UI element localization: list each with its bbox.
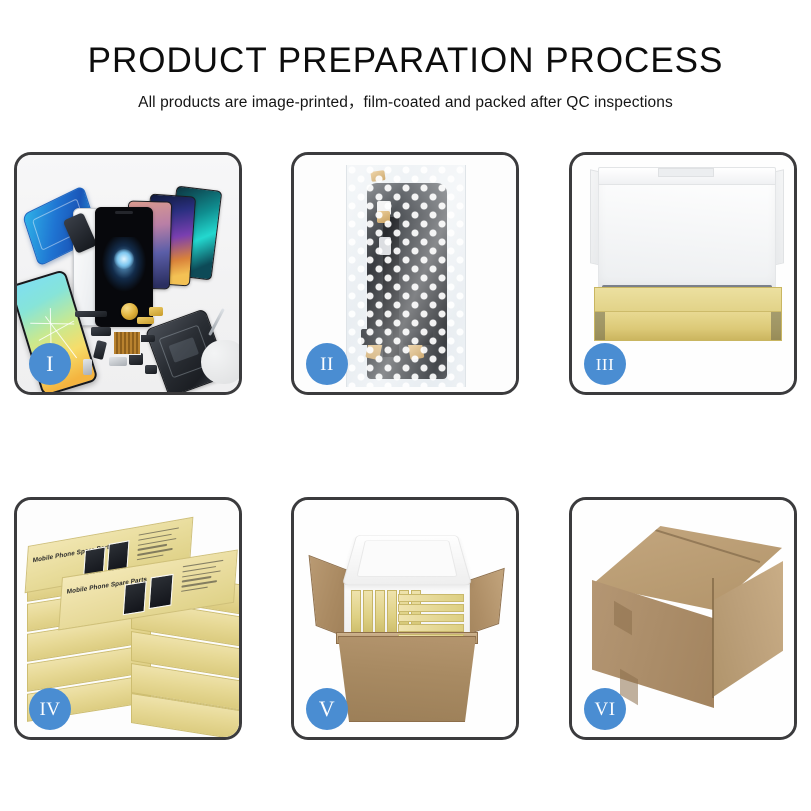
product-preparation-process-infographic: PRODUCT PREPARATION PROCESS All products… xyxy=(0,0,811,811)
metal-shield-part xyxy=(109,357,127,366)
process-step-1: I xyxy=(14,152,242,395)
gold-connector-part xyxy=(137,317,154,324)
vibration-motor-part xyxy=(121,303,138,320)
page-title: PRODUCT PREPARATION PROCESS xyxy=(0,40,811,82)
step-6-badge: VI xyxy=(584,688,626,730)
bubble-wrap-bag xyxy=(346,165,466,387)
process-step-grid: I II xyxy=(14,152,797,735)
process-step-5: V xyxy=(291,497,519,740)
process-step-4: Mobile Phone Spare Parts Mobile Phone Sp… xyxy=(14,497,242,740)
step-4-badge: IV xyxy=(29,688,71,730)
foam-lid xyxy=(342,535,472,585)
process-step-6: VI xyxy=(569,497,797,740)
box-spec-lines-front xyxy=(181,559,229,599)
step-5-badge: V xyxy=(306,688,348,730)
camera-module-part xyxy=(91,327,111,336)
process-step-2: II xyxy=(291,152,519,395)
retail-boxes-flat xyxy=(398,594,464,634)
speaker-part xyxy=(75,311,107,317)
box-lid-white xyxy=(598,169,776,291)
page-subtitle: All products are image-printed，film-coat… xyxy=(0,90,811,112)
gold-mailer-tray xyxy=(594,287,782,341)
step-2-badge: II xyxy=(306,343,348,385)
step-1-badge: I xyxy=(29,343,71,385)
carton-body xyxy=(338,636,476,722)
gold-bracket-part xyxy=(149,307,163,316)
hand xyxy=(201,340,239,384)
chip-grid-part xyxy=(113,331,141,355)
header: PRODUCT PREPARATION PROCESS All products… xyxy=(0,40,811,112)
step-3-badge: III xyxy=(584,343,626,385)
sim-tray-part xyxy=(83,359,92,375)
sensor-part xyxy=(145,365,157,374)
process-step-3: III xyxy=(569,152,797,395)
